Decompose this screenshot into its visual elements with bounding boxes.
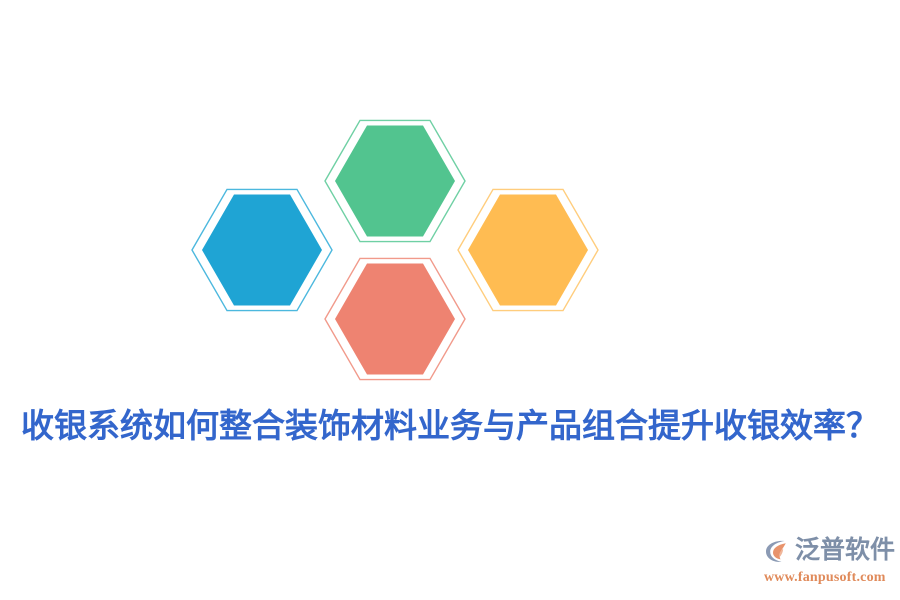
brand-logo-row: 泛普软件 <box>762 534 894 568</box>
hexagon-blue-fill <box>202 195 322 306</box>
hexagon-cluster-graphic <box>170 95 620 400</box>
fanpu-arc-logo-icon <box>762 536 792 566</box>
brand-website-url: www.fanpusoft.com <box>762 569 894 587</box>
poster-canvas: 收银系统如何整合装饰材料业务与产品组合提升收银效率？ 泛普软件 www.fanp… <box>0 0 900 600</box>
hexagon-salmon-fill <box>335 264 455 375</box>
hexagon-green-fill <box>335 126 455 237</box>
hexagon-orange <box>458 189 598 310</box>
hexagon-orange-fill <box>468 195 588 306</box>
brand-logo: 泛普软件 www.fanpusoft.com <box>762 534 894 590</box>
hexagon-salmon <box>325 258 465 379</box>
hexagon-green <box>325 120 465 241</box>
brand-company-name: 泛普软件 <box>795 536 895 566</box>
page-title: 收银系统如何整合装饰材料业务与产品组合提升收银效率？ <box>0 405 900 449</box>
hexagon-blue <box>192 189 332 310</box>
